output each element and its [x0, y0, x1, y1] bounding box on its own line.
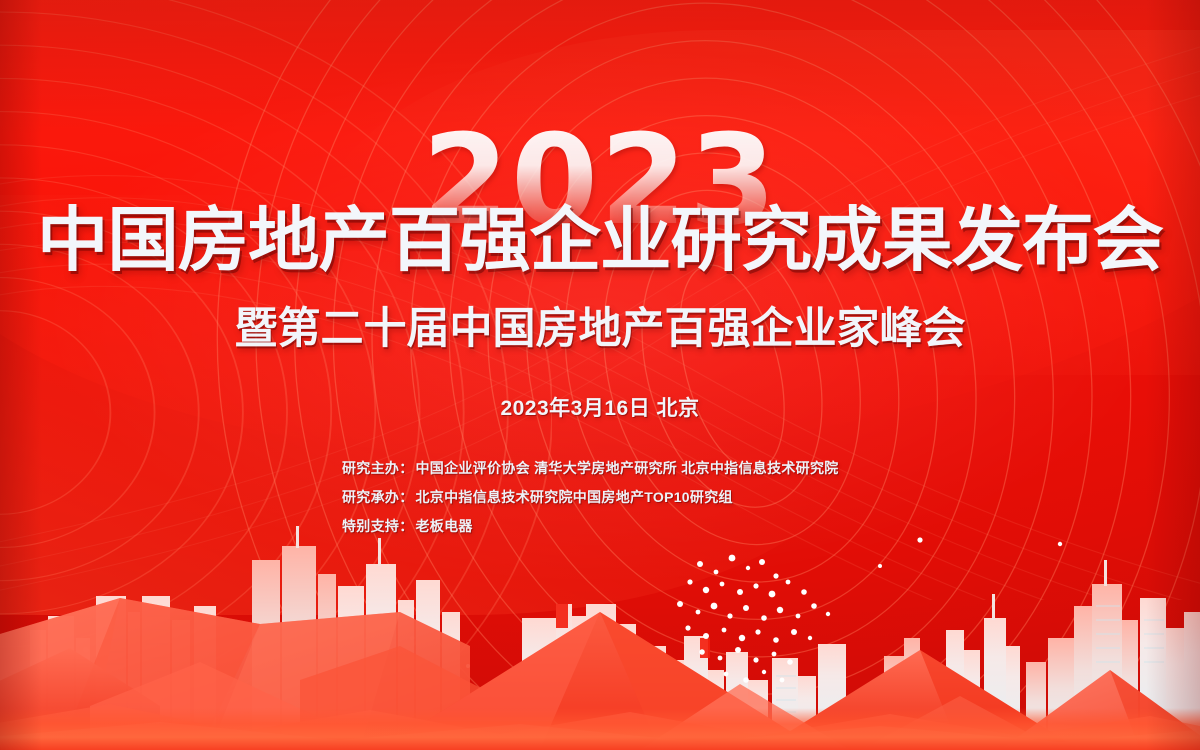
page-subtitle: 暨第二十届中国房地产百强企业家峰会 [0, 308, 1200, 351]
credits-block: 研究主办：中国企业评价协会 清华大学房地产研究所 北京中指信息技术研究院 研究承… [342, 458, 839, 536]
conference-backdrop: 2023 中国房地产百强企业研究成果发布会 暨第二十届中国房地产百强企业家峰会 … [0, 0, 1200, 750]
credit-line: 研究主办：中国企业评价协会 清华大学房地产研究所 北京中指信息技术研究院 [342, 458, 839, 478]
credit-value: 北京中指信息技术研究院中国房地产TOP10研究组 [416, 489, 733, 505]
credit-label: 研究主办： [342, 460, 414, 476]
credit-label: 特别支持： [342, 518, 414, 534]
credit-line: 研究承办：北京中指信息技术研究院中国房地产TOP10研究组 [342, 487, 839, 507]
page-title: 中国房地产百强企业研究成果发布会 [0, 205, 1200, 275]
credit-label: 研究承办： [342, 489, 414, 505]
credit-value: 中国企业评价协会 清华大学房地产研究所 北京中指信息技术研究院 [416, 460, 839, 476]
date-location-text: 2023年3月16日 北京 [0, 392, 1200, 422]
credit-line: 特别支持：老板电器 [342, 516, 839, 536]
credit-value: 老板电器 [416, 518, 473, 534]
